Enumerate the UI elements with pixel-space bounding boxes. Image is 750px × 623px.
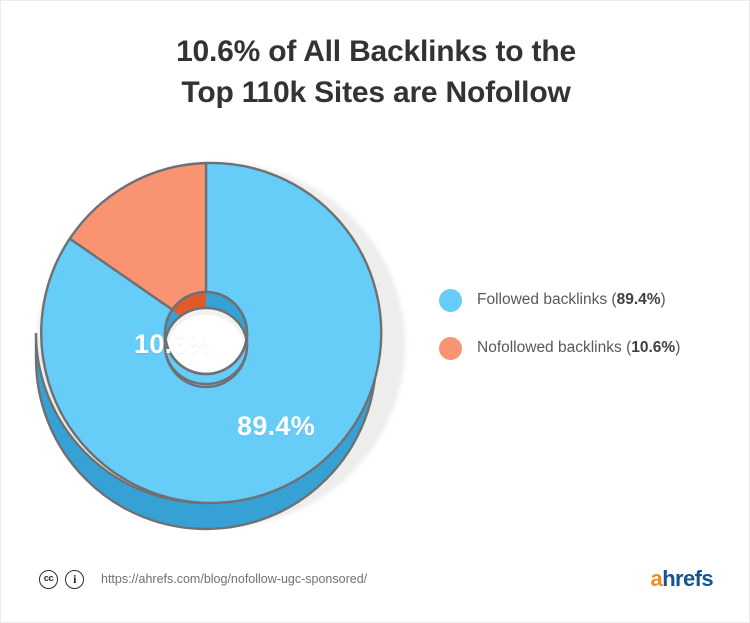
legend-item-followed[interactable]: Followed backlinks (89.4%) <box>439 287 729 313</box>
legend-text-followed: Followed backlinks <box>477 291 607 308</box>
legend-value-nofollowed: 10.6% <box>631 339 675 356</box>
slice-label-followed: 89.4% <box>237 411 315 442</box>
legend-label-nofollowed: Nofollowed backlinks (10.6%) <box>477 339 680 357</box>
page-title: 10.6% of All Backlinks to the Top 110k S… <box>1 31 750 113</box>
creative-commons-icon: cc <box>39 570 58 589</box>
legend-item-nofollowed[interactable]: Nofollowed backlinks (10.6%) <box>439 335 729 361</box>
attribution-icon: i <box>65 570 84 589</box>
title-line-2: Top 110k Sites are Nofollow <box>1 72 750 113</box>
pie-chart-svg <box>29 141 419 541</box>
source-url[interactable]: https://ahrefs.com/blog/nofollow-ugc-spo… <box>101 572 367 586</box>
legend-swatch-followed-icon <box>439 289 462 312</box>
ahrefs-logo[interactable]: ahrefs <box>651 567 713 591</box>
legend-value-followed: 89.4% <box>617 291 661 308</box>
infographic-canvas: 10.6% of All Backlinks to the Top 110k S… <box>0 0 750 623</box>
legend-text-nofollowed: Nofollowed backlinks <box>477 339 622 356</box>
pie-chart: 10.6% 89.4% <box>29 141 419 541</box>
footer-license-block: cc i https://ahrefs.com/blog/nofollow-ug… <box>39 566 367 592</box>
slice-label-nofollowed: 10.6% <box>134 329 212 360</box>
title-line-1: 10.6% of All Backlinks to the <box>1 31 750 72</box>
logo-wordmark: hrefs <box>662 566 713 591</box>
footer: cc i https://ahrefs.com/blog/nofollow-ug… <box>1 566 750 600</box>
legend-label-followed: Followed backlinks (89.4%) <box>477 291 666 309</box>
logo-letter-a: a <box>651 566 663 591</box>
legend-swatch-nofollowed-icon <box>439 337 462 360</box>
chart-legend: Followed backlinks (89.4%) Nofollowed ba… <box>439 287 729 383</box>
